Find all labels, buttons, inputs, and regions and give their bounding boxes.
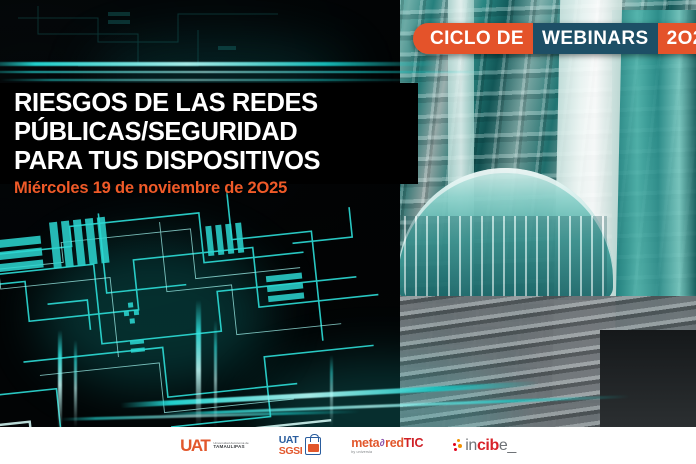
incibe-dots-icon [453,439,462,453]
sponsor-logo-bar: UAT Universidad Autónoma de TAMAULIPAS U… [0,427,696,464]
headline-line-1: RIESGOS DE LAS REDES [14,89,404,118]
vertical-light-streak [196,300,201,428]
badge-segment-ciclo: CICLO DE [413,23,533,54]
sgsi-wordmark: UAT SGSI [279,435,303,456]
incibe-wordmark: incibe_ [465,438,516,454]
uat-subtitle-line-2: TAMAULIPAS [213,445,248,450]
logo-uat-tamaulipas: UAT Universidad Autónoma de TAMAULIPAS [180,437,249,454]
metaredtic-tagline: by universia [351,451,372,455]
metaredtic-part-meta: meta [351,437,379,450]
badge-segment-year: 2O25 [658,23,696,54]
metaredtic-part-tic: TIC [404,437,424,450]
light-streak [0,79,430,81]
padlock-body [308,444,319,452]
uat-wordmark: UAT [180,437,209,454]
sgsi-line-sgsi: SGSI [279,446,303,457]
background-artwork [0,0,696,464]
logo-uat-sgsi: UAT SGSI [279,435,322,456]
sgsi-line-uat: UAT [279,435,303,446]
metaredtic-part-red: red [385,437,404,450]
logo-incibe: incibe_ [453,438,516,454]
vertical-light-streak [74,340,77,428]
far-tower-image [612,10,696,340]
vertical-light-streak [214,320,217,428]
link-glyph-icon: ∂ [380,439,385,449]
light-streak [0,62,440,66]
headline-line-2: PÚBLICAS/SEGURIDAD [14,118,404,147]
logo-metaredtic: meta ∂ red TIC by universia [351,437,423,455]
uat-subtitle: Universidad Autónoma de TAMAULIPAS [213,442,248,450]
incibe-part-in: in [465,437,477,454]
headline-block: RIESGOS DE LAS REDES PÚBLICAS/SEGURIDAD … [0,83,418,184]
light-streak [0,71,490,73]
ciclo-de-webinars-badge: CICLO DE WEBINARS 2O25 [413,23,696,54]
webinar-poster: CICLO DE WEBINARS 2O25 RIESGOS DE LAS RE… [0,0,696,464]
badge-segment-webinars: WEBINARS [533,23,658,54]
padlock-shackle [310,434,319,442]
incibe-part-e: e_ [499,437,516,454]
headline-line-3: PARA TUS DISPOSITIVOS [14,147,404,176]
event-date: Miércoles 19 de noviembre de 2O25 [14,179,287,198]
metaredtic-wordmark: meta ∂ red TIC [351,437,423,450]
padlock-icon [305,437,321,455]
vertical-light-streak [330,355,333,427]
plaza-shadow [600,330,696,427]
vertical-light-streak [58,330,62,430]
incibe-part-cib: cib [477,437,499,454]
